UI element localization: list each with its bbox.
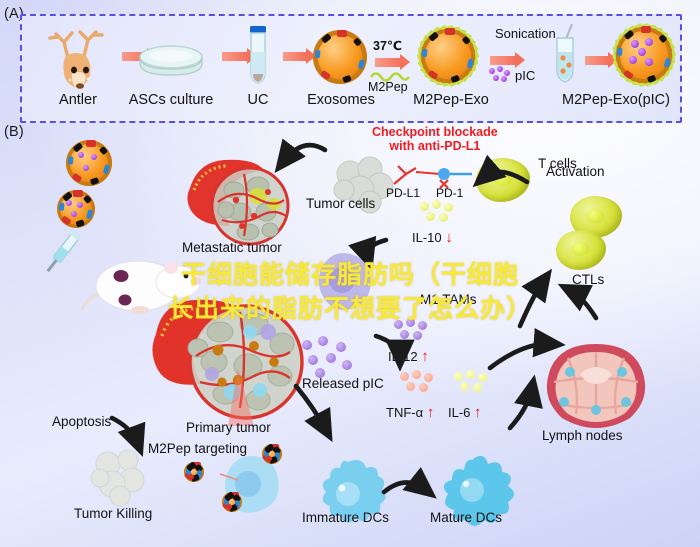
- il-6-dots-cluster: [452, 370, 492, 394]
- membrane-protein-marker: [617, 48, 623, 56]
- membrane-protein-marker: [86, 140, 96, 147]
- label-mature-dcs: Mature DCs: [430, 510, 502, 525]
- arrow-apoptosis-to-killing: [112, 418, 138, 444]
- panel-a-label-antler: Antler: [38, 92, 118, 108]
- il-10-dots-cluster: [418, 200, 456, 224]
- pic-dots-cluster: [489, 66, 511, 82]
- process-arrow-3: [283, 52, 307, 61]
- released-pic-dots-cluster: [300, 336, 354, 376]
- cytokine-il-10: IL-10 ↓: [412, 229, 453, 246]
- label-primary-tumor: Primary tumor: [186, 420, 271, 435]
- ctl-cell-icon-2: [556, 230, 606, 270]
- checkpoint-blockade-note: Checkpoint blockade with anti-PD-L1: [372, 126, 498, 153]
- m2pep-annotation: M2Pep: [368, 80, 408, 94]
- checkpoint-line-2: with anti-PD-L1: [389, 139, 480, 153]
- membrane-protein-marker: [337, 30, 347, 37]
- membrane-protein-marker: [73, 190, 83, 197]
- petri-dish-icon: [133, 40, 209, 80]
- centrifuge-tube-icon: [243, 24, 273, 90]
- label-ctls: CTLs: [572, 272, 604, 287]
- membrane-protein-marker: [68, 156, 74, 164]
- pic-annotation: pIC: [515, 68, 535, 83]
- arrow-mature-to-cytokines: [510, 388, 532, 428]
- lymph-nodes-icon: [530, 340, 662, 436]
- cytokine-tnf-alpha-arrow: ↑: [427, 404, 435, 421]
- targeting-exosome-icon-2: [262, 444, 282, 464]
- panel-a-label-m2pep-exo: M2Pep-Exo: [408, 92, 494, 108]
- peptide-exosome-icon: [420, 28, 476, 84]
- targeting-exosome-icon-1: [184, 462, 204, 482]
- exosome-icon: [313, 30, 367, 84]
- pic-loaded-exosome-icon: [615, 26, 673, 84]
- figure-canvas: (A) Antler ASCs culture UC Exosomes 37: [0, 0, 700, 547]
- sonicator-tube-icon: [548, 22, 582, 92]
- cytokine-tnf-alpha-name: TNF-α: [386, 405, 423, 420]
- label-apoptosis: Apoptosis: [52, 414, 111, 429]
- temperature-annotation: 37℃: [373, 38, 402, 53]
- metastatic-tumor-icon: [178, 154, 302, 254]
- label-lymph-nodes: Lymph nodes: [542, 428, 623, 443]
- cytokine-il-10-name: IL-10: [412, 230, 442, 245]
- free-exosome-icon-2: [57, 190, 95, 228]
- checkpoint-line-1: Checkpoint blockade: [372, 125, 498, 139]
- label-pd-1: PD-1: [436, 186, 463, 200]
- label-metastatic-tumor: Metastatic tumor: [182, 240, 282, 255]
- membrane-protein-marker: [422, 49, 428, 57]
- label-m1-tams: M1 TAMs: [420, 292, 477, 307]
- panel-a-label-uc: UC: [236, 92, 280, 108]
- membrane-protein-marker: [641, 26, 651, 33]
- arrow-to-ctls-right: [570, 290, 596, 318]
- process-arrow-4: [375, 58, 401, 67]
- t-cell-icon-1: [476, 158, 530, 202]
- arrow-to-ctls-left: [520, 280, 544, 326]
- tnf-alpha-dots-cluster: [398, 370, 438, 394]
- cytokine-il-12-name: IL-12: [388, 349, 418, 364]
- apoptotic-cell-icon: [84, 444, 154, 508]
- cytokine-il-6-arrow: ↑: [474, 404, 482, 421]
- membrane-protein-marker: [315, 50, 321, 58]
- targeting-exosome-icon-3: [222, 492, 242, 512]
- macrophage-targeting-icon: [190, 446, 300, 518]
- free-exosome-icon-1: [66, 140, 112, 186]
- cytokine-il-10-arrow: ↓: [445, 229, 453, 246]
- deer-head-icon: [38, 22, 120, 92]
- cytokine-il-6: IL-6 ↑: [448, 404, 482, 421]
- label-tumor-cells: Tumor cells: [306, 196, 375, 211]
- panel-a-label-m2pep-exo-pic: M2Pep-Exo(pIC): [562, 92, 700, 108]
- cytokine-il-12-arrow: ↑: [421, 348, 429, 365]
- membrane-protein-marker: [445, 28, 455, 35]
- cytokine-tnf-alpha: TNF-α ↑: [386, 404, 434, 421]
- label-immature-dcs: Immature DCs: [302, 510, 389, 525]
- sonication-annotation: Sonication: [495, 26, 556, 41]
- panel-b-tag: (B): [4, 124, 24, 140]
- cytokine-il-12: IL-12 ↑: [388, 348, 429, 365]
- panel-a-label-exosomes: Exosomes: [304, 92, 378, 108]
- label-pd-l1: PD-L1: [386, 186, 420, 200]
- il-12-dots-cluster: [392, 318, 430, 342]
- label-activation: Activation: [546, 164, 605, 179]
- panel-a-label-ascs: ASCs culture: [128, 92, 214, 108]
- label-tumor-killing: Tumor Killing: [74, 506, 152, 521]
- process-arrow-5: [490, 56, 516, 65]
- label-released-pic: Released pIC: [302, 376, 384, 391]
- process-arrow-6: [585, 56, 609, 65]
- membrane-protein-marker: [59, 203, 65, 211]
- cytokine-il-6-name: IL-6: [448, 405, 470, 420]
